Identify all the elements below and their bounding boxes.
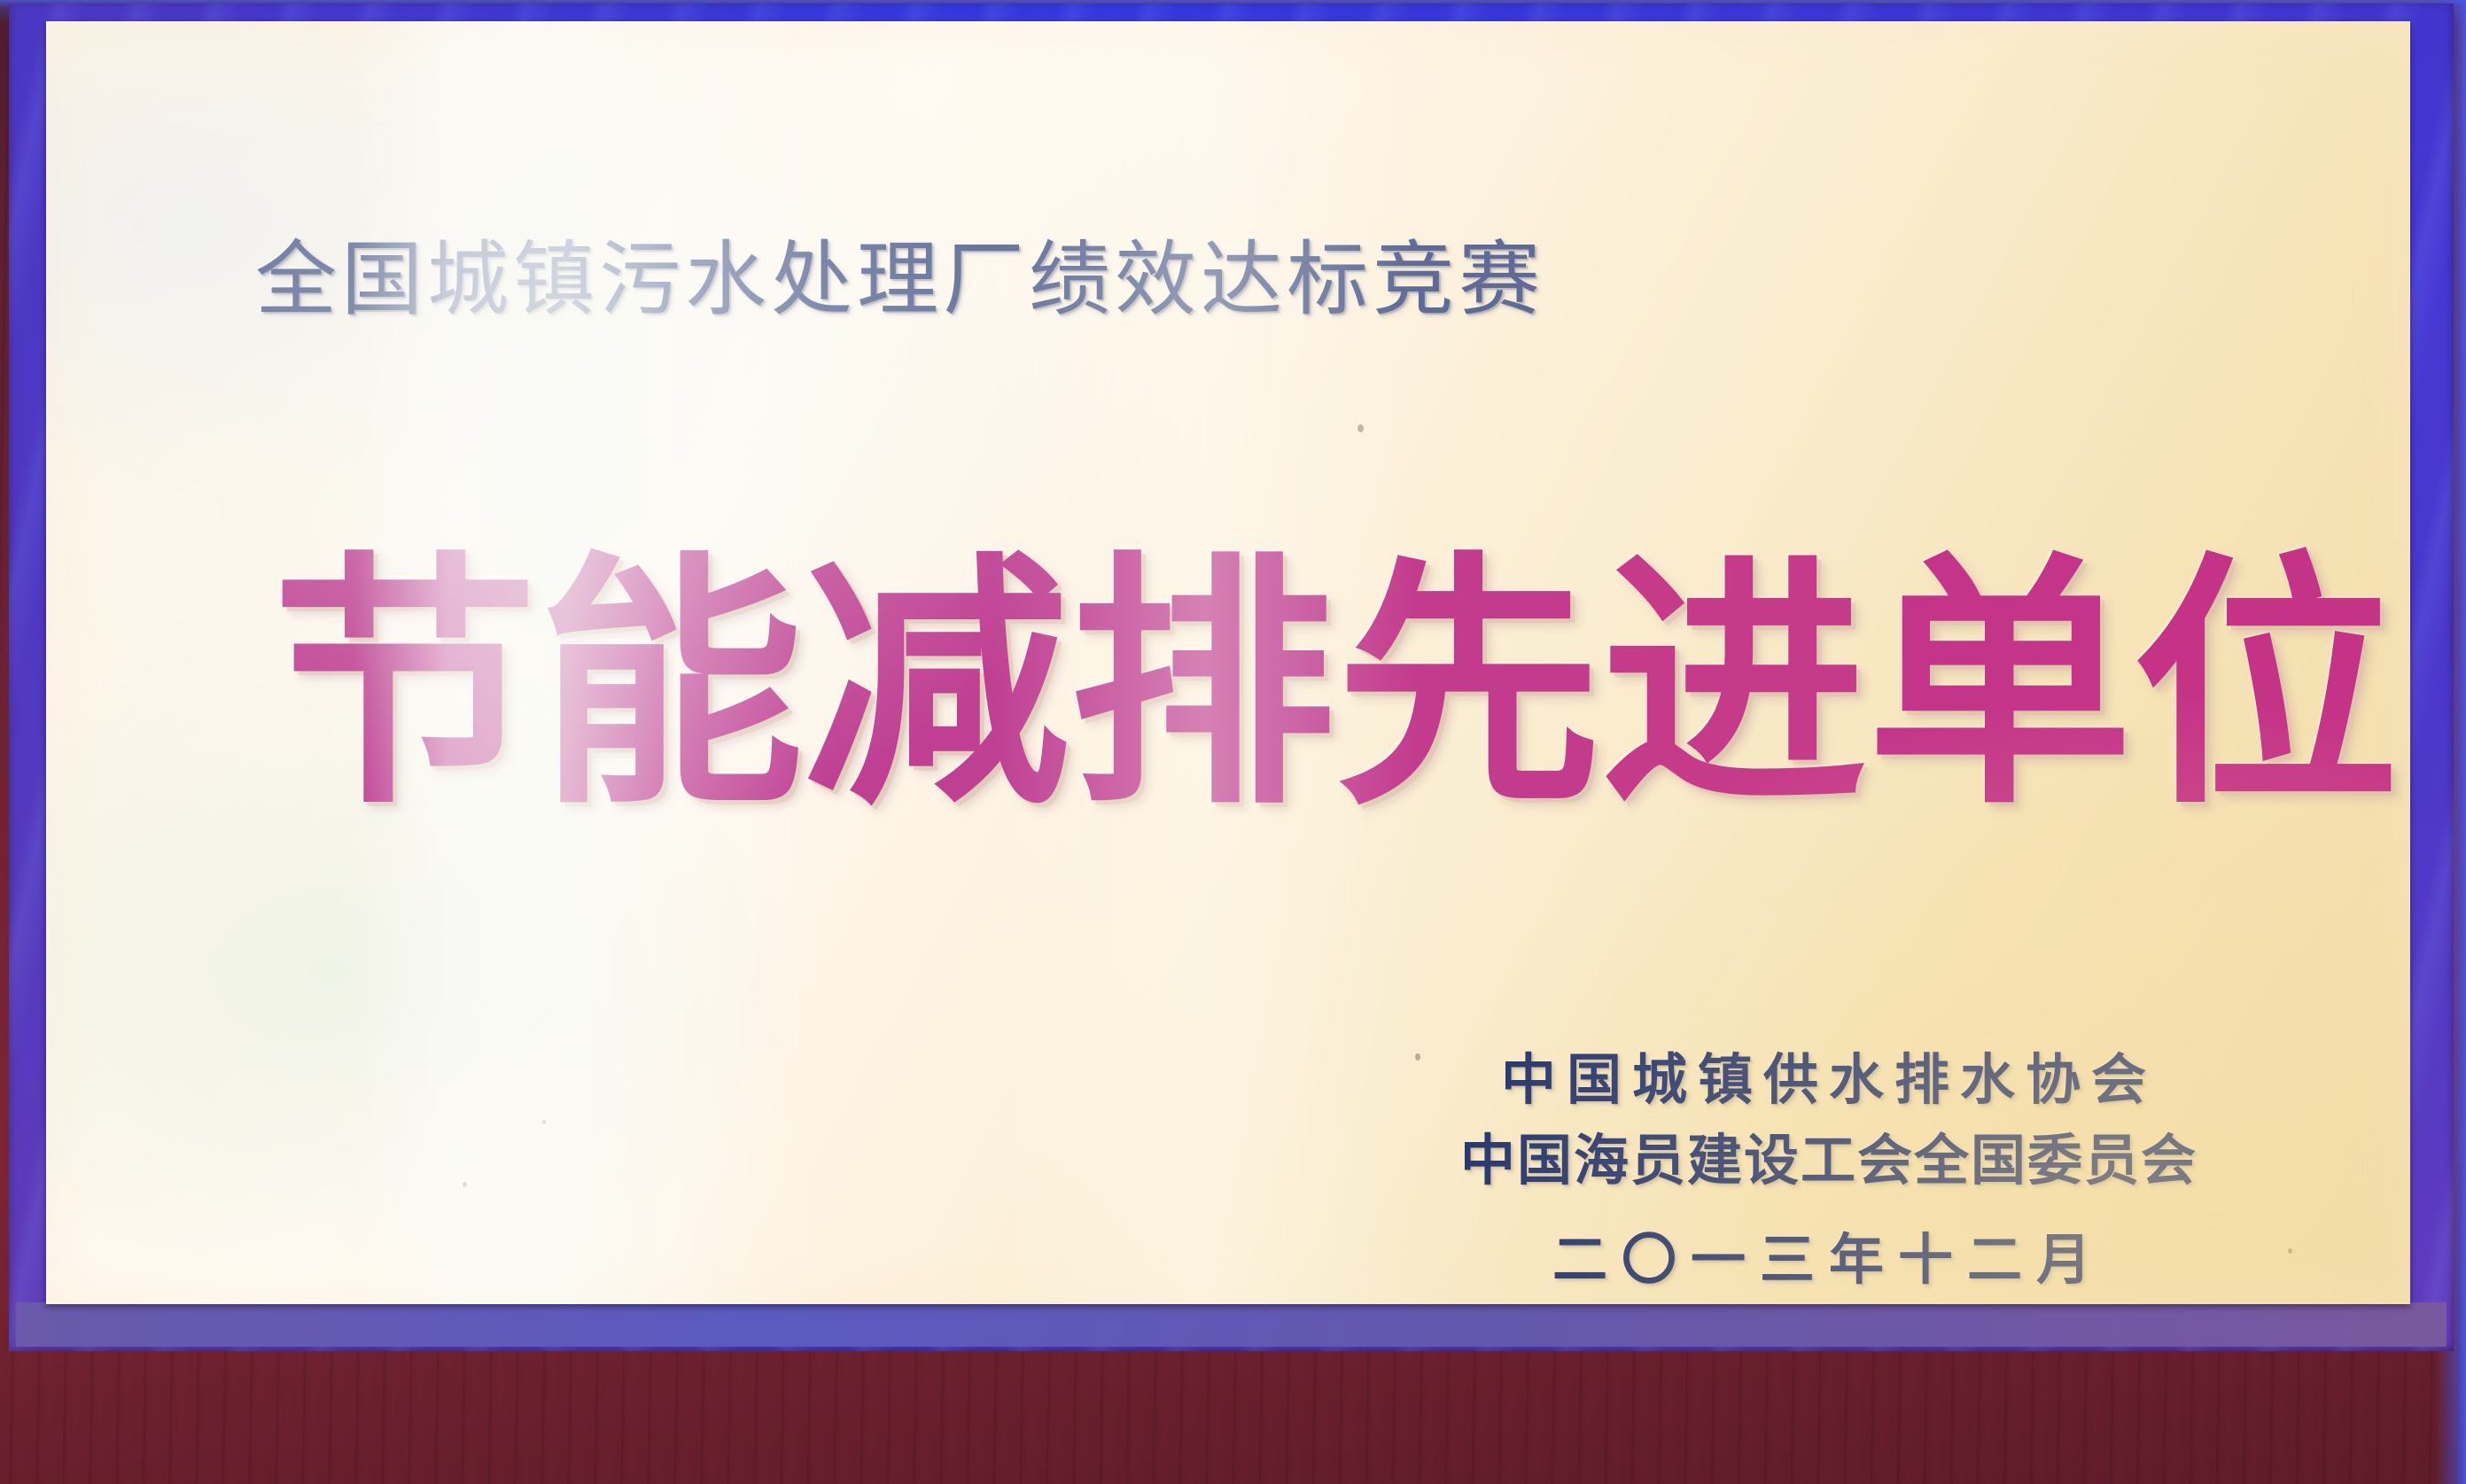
award-title-char: 进 [1601,553,1867,819]
award-title-char: 排 [1070,553,1335,819]
photo-speck [542,1120,546,1124]
award-title-char: 节 [272,553,538,819]
photo-speck [463,1182,467,1187]
photo-speck [1415,1053,1420,1061]
issuer-organization-primary: 中国城镇供水排水协会 [1460,1040,2198,1121]
award-title-char: 先 [1335,553,1601,819]
signature-block: 中国城镇供水排水协会 中国海员建设工会全国委员会 二〇一三年十二月 [1460,1040,2198,1301]
award-title-char: 减 [804,553,1070,819]
mat-bottom-strip [16,1302,2447,1347]
award-title-char: 能 [538,553,804,819]
issuer-organization-secondary: 中国海员建设工会全国委员会 [1460,1121,2198,1201]
award-title-char: 位 [2133,553,2399,819]
photo-speck [1357,424,1364,432]
photo-speck [2288,1248,2292,1254]
plaque-face: 全国城镇污水处理厂绩效达标竞赛 节 能 减 排 先 进 单 位 中国城镇供水排水… [46,21,2410,1304]
issue-date: 二〇一三年十二月 [1460,1220,2198,1301]
award-title-char: 单 [1867,553,2133,819]
award-title: 节 能 减 排 先 进 单 位 [272,553,2292,819]
award-plaque-photograph: 全国城镇污水处理厂绩效达标竞赛 节 能 减 排 先 进 单 位 中国城镇供水排水… [0,0,2466,1484]
competition-header: 全国城镇污水处理厂绩效达标竞赛 [255,239,1762,321]
